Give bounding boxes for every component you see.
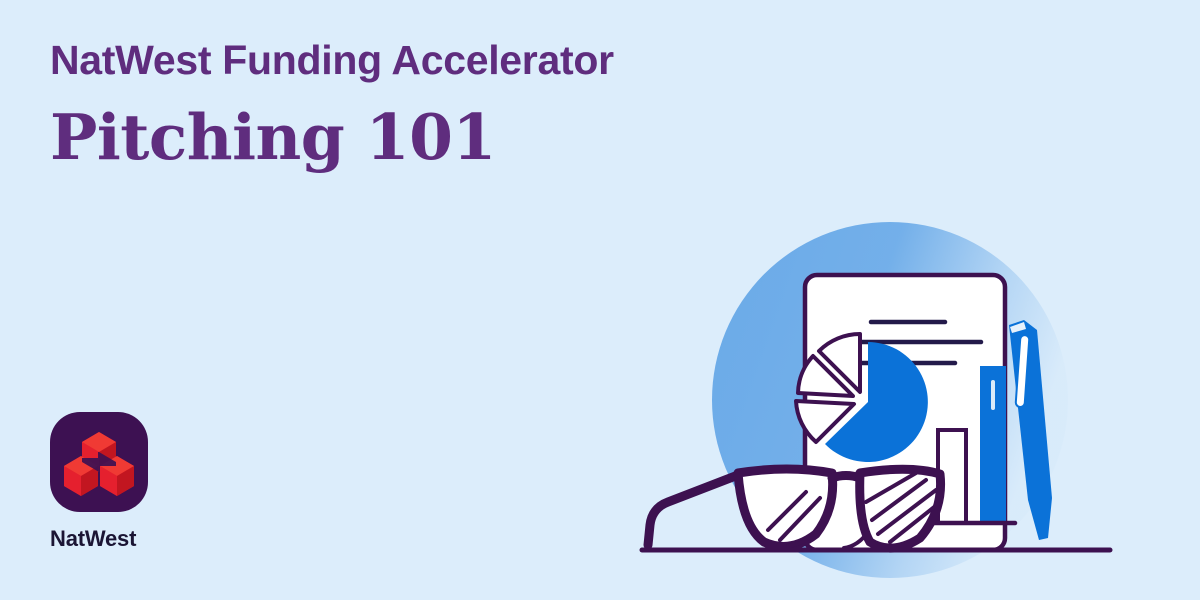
event-banner: NatWest Funding Accelerator Pitching 101 <box>0 0 1200 600</box>
brand-name-label: NatWest <box>50 526 200 552</box>
illustration-svg <box>620 190 1180 580</box>
page-title: Pitching 101 <box>50 104 790 170</box>
event-series-label: NatWest Funding Accelerator <box>50 38 790 82</box>
bar-3-highlight <box>991 380 995 410</box>
brand-lockup: NatWest <box>50 412 200 552</box>
heading-block: NatWest Funding Accelerator Pitching 101 <box>50 38 790 170</box>
natwest-three-cubes-icon <box>50 412 148 512</box>
hero-illustration <box>620 190 1180 580</box>
natwest-logo-tile <box>50 412 148 512</box>
